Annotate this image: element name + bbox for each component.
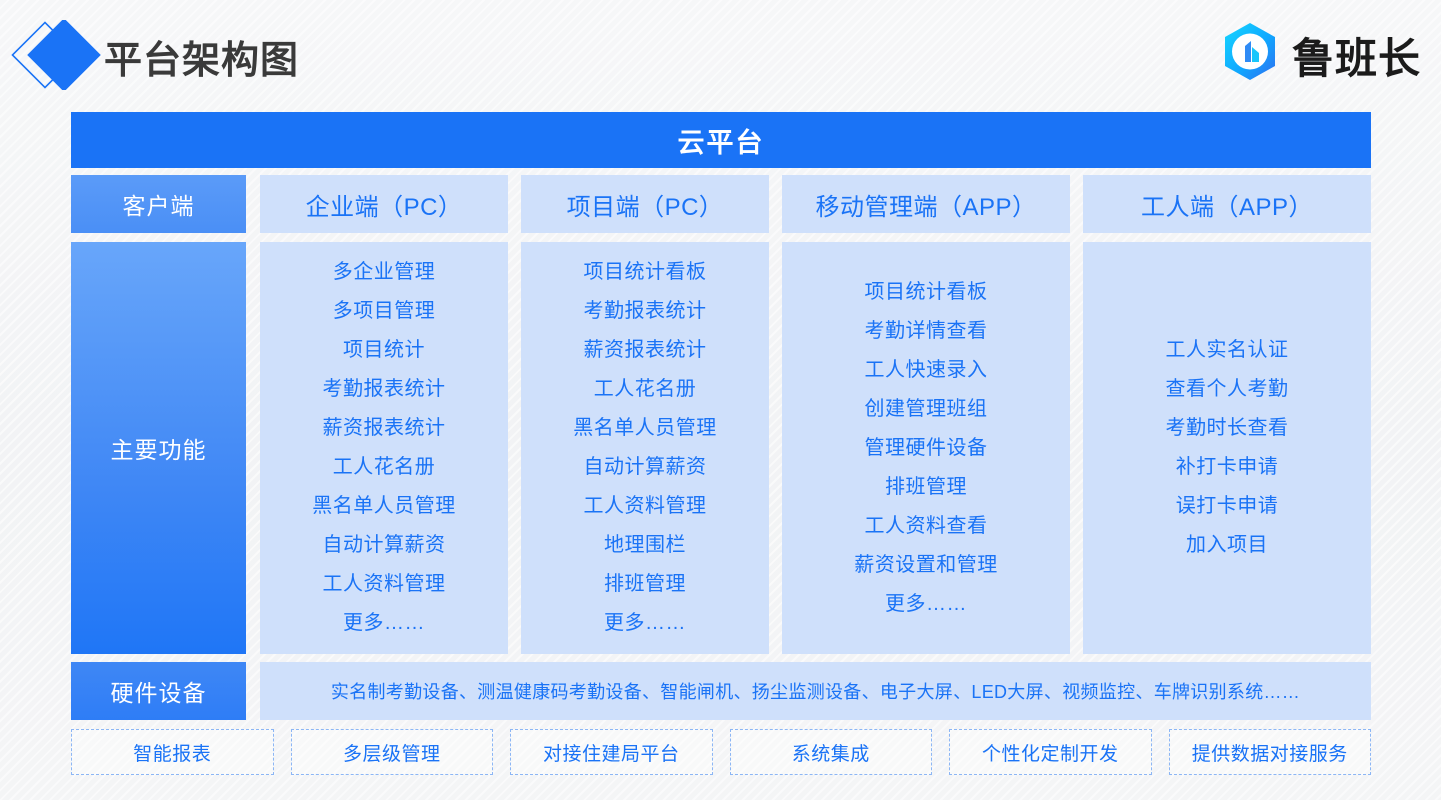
list-item[interactable]: 工人花名册 xyxy=(594,370,697,409)
list-item[interactable]: 考勤详情查看 xyxy=(865,312,988,351)
page-header: 平台架构图 鲁班长 xyxy=(0,0,1441,106)
list-item[interactable]: 薪资报表统计 xyxy=(584,331,707,370)
client-column-header-enterprise[interactable]: 企业端（PC） xyxy=(260,175,508,233)
capability-tag-data-service[interactable]: 提供数据对接服务 xyxy=(1169,729,1372,775)
list-item[interactable]: 工人花名册 xyxy=(333,448,436,487)
capability-tag-gov-platform[interactable]: 对接住建局平台 xyxy=(510,729,713,775)
hexagon-building-icon xyxy=(1218,20,1282,90)
list-item[interactable]: 考勤报表统计 xyxy=(323,370,446,409)
row-label-client: 客户端 xyxy=(71,175,246,233)
list-item-more[interactable]: 更多…… xyxy=(604,604,686,643)
list-item[interactable]: 多企业管理 xyxy=(333,253,436,292)
list-item-more[interactable]: 更多…… xyxy=(885,585,967,624)
client-column-header-mobile-admin[interactable]: 移动管理端（APP） xyxy=(782,175,1070,233)
feature-list-project: 项目统计看板 考勤报表统计 薪资报表统计 工人花名册 黑名单人员管理 自动计算薪… xyxy=(521,242,769,654)
list-item[interactable]: 管理硬件设备 xyxy=(865,429,988,468)
list-item[interactable]: 工人资料查看 xyxy=(865,507,988,546)
list-item[interactable]: 项目统计看板 xyxy=(865,273,988,312)
row-label-hardware: 硬件设备 xyxy=(71,662,246,720)
client-header-row: 客户端 企业端（PC） 项目端（PC） 移动管理端（APP） 工人端（APP） xyxy=(71,175,1371,233)
list-item[interactable]: 薪资报表统计 xyxy=(323,409,446,448)
list-item[interactable]: 地理围栏 xyxy=(604,526,686,565)
list-item[interactable]: 多项目管理 xyxy=(333,292,436,331)
list-item[interactable]: 项目统计 xyxy=(343,331,425,370)
list-item[interactable]: 考勤报表统计 xyxy=(584,292,707,331)
client-column-header-project[interactable]: 项目端（PC） xyxy=(521,175,769,233)
list-item[interactable]: 工人资料管理 xyxy=(323,565,446,604)
row-label-main-functions: 主要功能 xyxy=(71,242,246,654)
feature-list-enterprise: 多企业管理 多项目管理 项目统计 考勤报表统计 薪资报表统计 工人花名册 黑名单… xyxy=(260,242,508,654)
capability-tag-smart-report[interactable]: 智能报表 xyxy=(71,729,274,775)
feature-list-mobile-admin: 项目统计看板 考勤详情查看 工人快速录入 创建管理班组 管理硬件设备 排班管理 … xyxy=(782,242,1070,654)
list-item[interactable]: 工人资料管理 xyxy=(584,487,707,526)
list-item[interactable]: 自动计算薪资 xyxy=(323,526,446,565)
diamond-icon xyxy=(8,20,104,90)
hardware-row: 硬件设备 实名制考勤设备、测温健康码考勤设备、智能闸机、扬尘监测设备、电子大屏、… xyxy=(71,662,1371,720)
list-item[interactable]: 工人快速录入 xyxy=(865,351,988,390)
list-item-more[interactable]: 更多…… xyxy=(343,604,425,643)
hardware-device-list: 实名制考勤设备、测温健康码考勤设备、智能闸机、扬尘监测设备、电子大屏、LED大屏… xyxy=(260,662,1371,720)
list-item[interactable]: 补打卡申请 xyxy=(1176,448,1279,487)
client-column-header-worker[interactable]: 工人端（APP） xyxy=(1083,175,1371,233)
brand-name: 鲁班长 xyxy=(1292,25,1421,86)
list-item[interactable]: 创建管理班组 xyxy=(865,390,988,429)
list-item[interactable]: 误打卡申请 xyxy=(1176,487,1279,526)
page-title: 平台架构图 xyxy=(104,29,299,84)
capability-tags-row: 智能报表 多层级管理 对接住建局平台 系统集成 个性化定制开发 提供数据对接服务 xyxy=(71,729,1371,775)
architecture-diagram: 云平台 客户端 企业端（PC） 项目端（PC） 移动管理端（APP） 工人端（A… xyxy=(71,112,1371,782)
list-item[interactable]: 项目统计看板 xyxy=(584,253,707,292)
main-functions-row: 主要功能 多企业管理 多项目管理 项目统计 考勤报表统计 薪资报表统计 工人花名… xyxy=(71,242,1371,654)
list-item[interactable]: 排班管理 xyxy=(604,565,686,604)
list-item[interactable]: 薪资设置和管理 xyxy=(854,546,998,585)
list-item[interactable]: 工人实名认证 xyxy=(1166,331,1289,370)
list-item[interactable]: 排班管理 xyxy=(885,468,967,507)
list-item[interactable]: 考勤时长查看 xyxy=(1166,409,1289,448)
feature-list-worker: 工人实名认证 查看个人考勤 考勤时长查看 补打卡申请 误打卡申请 加入项目 xyxy=(1083,242,1371,654)
capability-tag-customization[interactable]: 个性化定制开发 xyxy=(949,729,1152,775)
brand-logo: 鲁班长 xyxy=(1218,20,1421,90)
list-item[interactable]: 加入项目 xyxy=(1186,526,1268,565)
capability-tag-multi-level[interactable]: 多层级管理 xyxy=(291,729,494,775)
cloud-platform-banner: 云平台 xyxy=(71,112,1371,168)
list-item[interactable]: 黑名单人员管理 xyxy=(312,487,456,526)
list-item[interactable]: 自动计算薪资 xyxy=(584,448,707,487)
list-item[interactable]: 黑名单人员管理 xyxy=(573,409,717,448)
list-item[interactable]: 查看个人考勤 xyxy=(1166,370,1289,409)
capability-tag-system-integration[interactable]: 系统集成 xyxy=(730,729,933,775)
